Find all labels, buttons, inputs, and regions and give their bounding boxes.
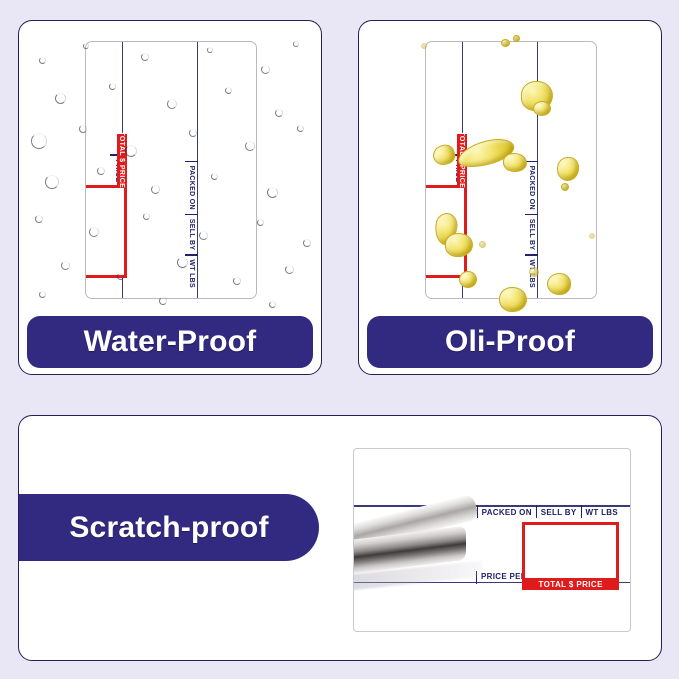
banner-water-proof: Water-Proof: [27, 316, 313, 368]
banner-label-oil-proof: Oli-Proof: [445, 325, 575, 359]
total-price-bar: TOTAL $ PRICE: [457, 134, 467, 185]
label-field-row-right: PACKED ON SELL BY WT LBS: [354, 505, 630, 517]
total-price-box: [85, 185, 127, 277]
total-price-bar: TOTAL $ PRICE: [117, 134, 127, 185]
banner-label-water-proof: Water-Proof: [84, 325, 257, 359]
feature-card-water-proof: PACKED ON SELL BY WT LBS PRICE PER LB TO…: [18, 20, 322, 375]
label-artwork-scratch: PACKED ON SELL BY WT LBS PRICE PER LB TO…: [353, 448, 631, 632]
label-artwork-oil: PACKED ON SELL BY WT LBS PRICE PER LB TO…: [361, 25, 661, 315]
label-field-packed-on: PACKED ON: [528, 161, 538, 214]
rotated-label-holder: PACKED ON SELL BY WT LBS PRICE PER LB TO…: [85, 41, 257, 299]
banner-oil-proof: Oli-Proof: [367, 316, 653, 368]
label-field-wt-lbs: WT LBS: [188, 254, 198, 298]
label-field-sell-by: SELL BY: [528, 214, 538, 255]
feature-card-oil-proof: PACKED ON SELL BY WT LBS PRICE PER LB TO…: [358, 20, 662, 375]
price-label: PACKED ON SELL BY WT LBS PRICE PER LB TO…: [425, 41, 597, 299]
banner-label-scratch-proof: Scratch-proof: [69, 511, 268, 545]
total-price-box: [425, 185, 467, 277]
feature-card-scratch-proof: PACKED ON SELL BY WT LBS PRICE PER LB TO…: [18, 415, 662, 661]
rotated-label-holder: PACKED ON SELL BY WT LBS PRICE PER LB TO…: [425, 41, 597, 299]
price-label: PACKED ON SELL BY WT LBS PRICE PER LB TO…: [85, 41, 257, 299]
total-price-bar: TOTAL $ PRICE: [522, 578, 619, 590]
label-artwork-water: PACKED ON SELL BY WT LBS PRICE PER LB TO…: [21, 25, 321, 315]
label-field-sell-by: SELL BY: [188, 214, 198, 255]
key-icon: [353, 501, 492, 611]
label-field-sell-by: SELL BY: [536, 505, 581, 517]
total-price-box: [522, 522, 619, 584]
price-label: PACKED ON SELL BY WT LBS PRICE PER LB TO…: [353, 448, 631, 632]
label-field-packed-on: PACKED ON: [477, 505, 536, 517]
label-field-wt-lbs: WT LBS: [528, 254, 538, 298]
label-field-row-right: PACKED ON SELL BY WT LBS: [528, 42, 538, 298]
label-field-packed-on: PACKED ON: [188, 161, 198, 214]
infographic-stage: PACKED ON SELL BY WT LBS PRICE PER LB TO…: [0, 0, 679, 679]
label-field-wt-lbs: WT LBS: [581, 505, 630, 517]
label-field-row-right: PACKED ON SELL BY WT LBS: [188, 42, 198, 298]
banner-scratch-proof: Scratch-proof: [19, 494, 319, 561]
